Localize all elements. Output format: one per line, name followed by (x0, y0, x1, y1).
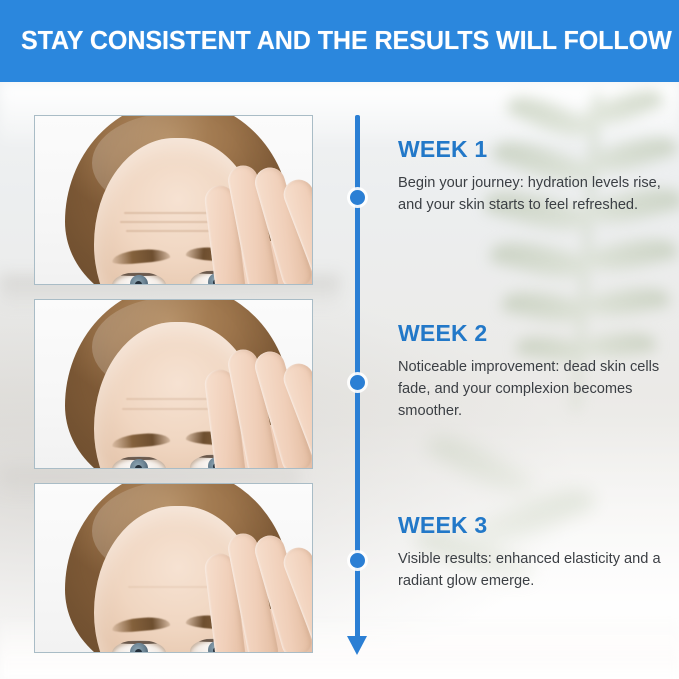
photo-frame-week-3[interactable] (34, 483, 313, 653)
timeline-dot-week-1[interactable] (350, 190, 365, 205)
timeline-arrow-down-icon (347, 636, 367, 655)
portrait-image-1 (35, 116, 312, 284)
step-title-week-1: WEEK 1 (398, 136, 670, 163)
step-title-week-3: WEEK 3 (398, 512, 670, 539)
step-block-week-1: WEEK 1 Begin your journey: hydration lev… (398, 136, 670, 216)
photo-frame-week-2[interactable] (34, 299, 313, 469)
step-body-week-3: Visible results: enhanced elasticity and… (398, 548, 670, 592)
step-block-week-3: WEEK 3 Visible results: enhanced elastic… (398, 512, 670, 592)
step-title-week-2: WEEK 2 (398, 320, 670, 347)
portrait-image-3 (35, 484, 312, 652)
photo-frame-week-1[interactable] (34, 115, 313, 285)
portrait-image-2 (35, 300, 312, 468)
photo-column (34, 115, 313, 653)
infographic-poster: STAY CONSISTENT AND THE RESULTS WILL FOL… (0, 0, 679, 679)
timeline-dot-week-2[interactable] (350, 375, 365, 390)
header-banner: STAY CONSISTENT AND THE RESULTS WILL FOL… (0, 0, 679, 82)
step-body-week-2: Noticeable improvement: dead skin cells … (398, 356, 670, 423)
step-body-week-1: Begin your journey: hydration levels ris… (398, 172, 670, 216)
step-block-week-2: WEEK 2 Noticeable improvement: dead skin… (398, 320, 670, 423)
progress-timeline (355, 115, 360, 640)
page-title: STAY CONSISTENT AND THE RESULTS WILL FOL… (21, 27, 672, 56)
timeline-dot-week-3[interactable] (350, 553, 365, 568)
